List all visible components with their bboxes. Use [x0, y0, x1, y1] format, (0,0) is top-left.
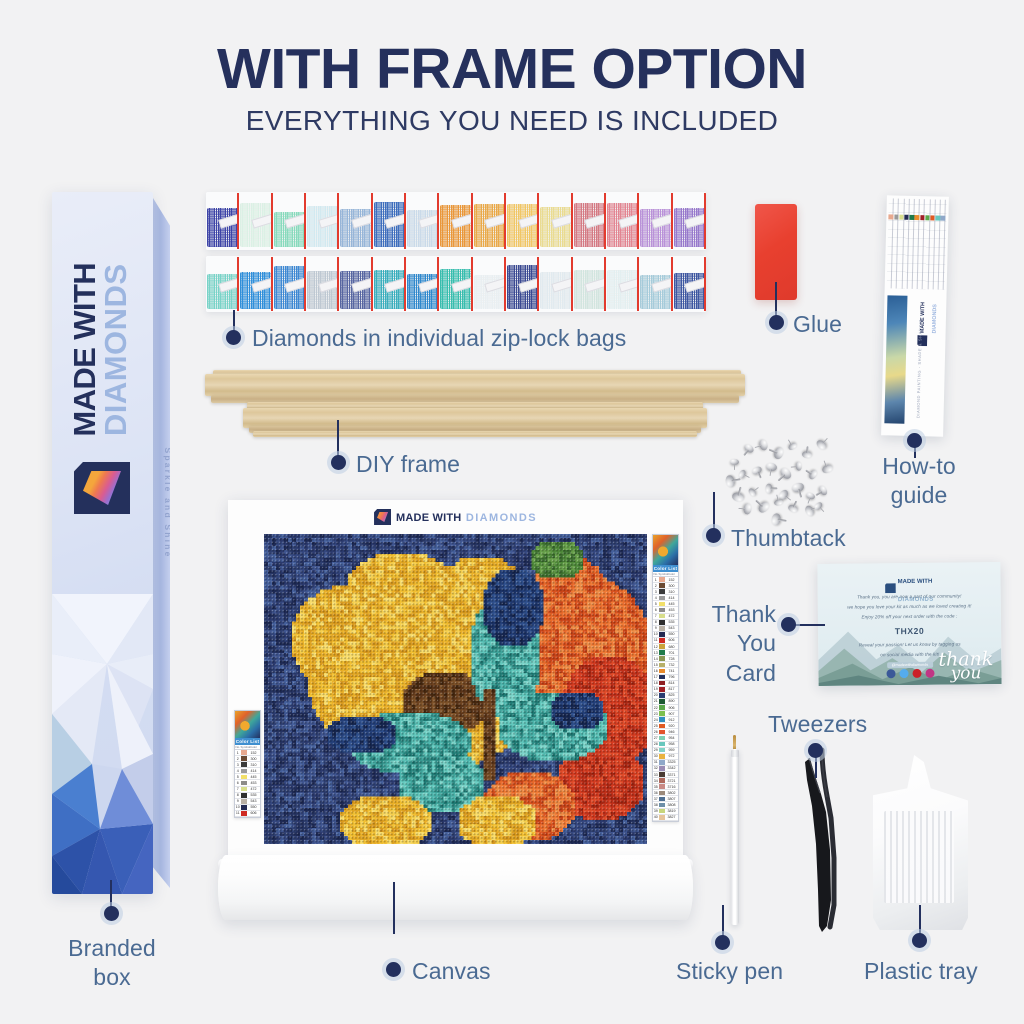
color-row-code: 825: [665, 693, 678, 697]
diamond-bag: [573, 192, 606, 250]
thumbtack: [747, 487, 758, 498]
twitter-icon[interactable]: [899, 669, 908, 678]
diamond-bag: [406, 192, 439, 250]
color-list-title: Color List: [653, 565, 678, 572]
diamond-bag: [673, 256, 706, 312]
diamond-bag: [573, 256, 606, 312]
thumbtack-pin: [738, 507, 746, 509]
diamond-bag: [373, 192, 406, 250]
canvas-sheet: MADE WITH DIAMONDS Color ListNo.SymbolCo…: [228, 500, 683, 870]
color-row-code: 3371: [665, 773, 678, 777]
thumbtack: [743, 443, 755, 455]
box-lowpoly-pattern: [52, 594, 153, 894]
canvas-logo-icon: [374, 509, 391, 525]
thumbtack: [730, 459, 739, 465]
color-row-code: 300: [665, 584, 678, 588]
thumbtack: [787, 503, 799, 514]
infographic-stage: WITH FRAME OPTION EVERYTHING YOU NEED IS…: [0, 0, 1024, 1024]
color-row-code: 414: [247, 769, 260, 773]
box-front-face: MADE WITH DIAMONDS: [52, 192, 153, 894]
pen-body: [731, 749, 739, 925]
card-brand-line1: MADE WITH: [898, 579, 933, 585]
color-row-code: 907: [665, 712, 678, 716]
diamond-bag: [273, 192, 306, 250]
canvas-color-list-left: Color ListNo.SymbolColor1152230033104414…: [234, 710, 261, 818]
callout-diamond-bags: Diamonds in individual zip-lock bags: [252, 325, 626, 352]
color-row-code: 3808: [665, 803, 678, 807]
thumbtack: [765, 484, 772, 494]
color-row-code: 445: [247, 775, 260, 779]
canvas-product: MADE WITH DIAMONDS Color ListNo.SymbolCo…: [228, 500, 683, 920]
diamond-bag: [439, 192, 472, 250]
color-row-code: 543: [247, 799, 260, 803]
callout-dot-diy-frame: [331, 455, 346, 470]
instagram-icon[interactable]: [925, 669, 934, 678]
callout-sticky-pen: Sticky pen: [676, 958, 783, 985]
diamond-bag: [539, 192, 572, 250]
color-row-code: 3819: [665, 809, 678, 813]
canvas-diamond-texture: [264, 534, 647, 844]
diamond-bag: [506, 192, 539, 250]
callout-dot-canvas: [386, 962, 401, 977]
canvas-brand-lockup: MADE WITH DIAMONDS: [228, 508, 683, 526]
color-row-code: 535: [247, 793, 260, 797]
color-row-code: 3827: [665, 815, 678, 819]
thumbtack: [773, 498, 783, 506]
callout-branded-box: Branded box: [42, 934, 182, 993]
thumbtack-pin: [753, 487, 759, 492]
color-list-thumbnail: [653, 535, 678, 565]
thumbtack-head: [773, 446, 785, 460]
guide-color-table: [887, 198, 947, 289]
thumbtack-head: [751, 465, 763, 476]
leader-thank-you-card: [795, 624, 825, 626]
color-row-code: 959: [665, 748, 678, 752]
thumbtack: [802, 451, 813, 459]
card-brand-lockup: MADE WITH DIAMONDS: [884, 570, 933, 607]
callout-thank-you-card: Thank You Card: [672, 600, 776, 688]
color-row-code: 890: [665, 699, 678, 703]
diamond-logo-gradient: [83, 471, 121, 505]
color-row-code: 3342: [665, 766, 678, 770]
color-list-title: Color List: [235, 738, 260, 745]
thumbtack: [813, 501, 824, 512]
card-social-icons: [886, 669, 934, 679]
thumbtack: [771, 513, 781, 526]
box-brand-line1: MADE WITH: [69, 215, 100, 485]
diamond-bag: [273, 256, 306, 312]
color-row-code: 3802: [665, 791, 678, 795]
diamond-bag: [206, 192, 239, 250]
color-row-code: 300: [247, 757, 260, 761]
diy-frame-product: [205, 368, 750, 456]
howto-guide-product: MADE WITH DIAMONDS DIAMOND PAINTING - SH…: [881, 195, 949, 436]
diamond-bag: [506, 256, 539, 312]
thumbtack-head: [787, 441, 798, 451]
diamond-bag: [606, 256, 639, 312]
callout-dot-diamond-bags: [226, 330, 241, 345]
thumbtack: [773, 446, 785, 460]
thumbtack-pin: [732, 479, 741, 482]
leader-canvas: [393, 882, 395, 934]
color-row-code: 3721: [665, 779, 678, 783]
card-promo-code: THX20: [818, 625, 1001, 637]
box-brand-line2: DIAMONDS: [100, 215, 133, 485]
thumbtack-pin: [770, 488, 777, 490]
thumbtack: [807, 468, 818, 480]
color-row-code: 920: [665, 724, 678, 728]
callout-dot-tweezers: [808, 743, 823, 758]
leader-glue: [775, 282, 777, 317]
color-row-code: 606: [247, 811, 260, 815]
card-logo-icon: [885, 583, 896, 593]
color-row-code: 972: [665, 754, 678, 758]
color-row-code: 310: [665, 590, 678, 594]
plastic-tray-product: [870, 755, 968, 930]
thumbtack-pin: [819, 507, 825, 513]
page-title: WITH FRAME OPTION: [0, 36, 1024, 102]
color-row-code: 912: [665, 718, 678, 722]
leader-branded-box: [110, 880, 112, 908]
tray-grooves: [884, 811, 954, 903]
tweezers-product: [800, 740, 842, 935]
callout-dot-branded-box: [104, 906, 119, 921]
thumbtack-head: [805, 492, 816, 501]
bag-zip-seal: [704, 193, 706, 249]
thumbtack: [731, 492, 745, 503]
guide-vertical-caption: DIAMOND PAINTING - SHADE & SHADOW: [916, 319, 923, 418]
leader-thumbtack: [713, 492, 715, 530]
diamond-bag: [439, 256, 472, 312]
diamond-bag: [239, 256, 272, 312]
leader-diy-frame: [337, 420, 339, 456]
canvas-artwork: [264, 534, 647, 844]
diamond-bag: [339, 192, 372, 250]
color-row-code: 453: [247, 781, 260, 785]
color-list-row: 403827: [653, 815, 678, 821]
diamond-bag: [239, 192, 272, 250]
box-side-panel: Sparkle and Shine: [153, 198, 170, 888]
thumbtack: [725, 475, 736, 488]
color-row-code: 3807: [665, 797, 678, 801]
guide-brand-line2: DIAMONDS: [932, 296, 939, 333]
leader-sticky-pen: [722, 905, 724, 937]
diamond-bag: [306, 192, 339, 250]
diamond-bag: [606, 192, 639, 250]
callout-dot-plastic-tray: [912, 933, 927, 948]
color-row-code: 550: [247, 805, 260, 809]
canvas-rolled-edge: [218, 855, 693, 920]
callout-thumbtack: Thumbtack: [731, 525, 846, 552]
diamond-bag: [639, 256, 672, 312]
color-list-row: 11606: [235, 811, 260, 817]
thumbtack: [757, 500, 771, 515]
callout-dot-thumbtack: [706, 528, 721, 543]
color-row-code: 472: [247, 787, 260, 791]
diamond-bag: [406, 256, 439, 312]
callout-canvas: Canvas: [412, 958, 491, 985]
branded-box-product: Sparkle and Shine MADE WITH DIAMONDS: [52, 192, 170, 894]
thumbtack: [815, 438, 828, 451]
diamond-bag-row-bottom: [206, 256, 706, 312]
thumbtack: [765, 462, 777, 472]
guide-cover-image: [884, 295, 907, 423]
color-row-code: 906: [665, 706, 678, 710]
page-subtitle: EVERYTHING YOU NEED IS INCLUDED: [0, 105, 1024, 137]
diamond-bag: [373, 256, 406, 312]
callout-howto: How-to guide: [864, 452, 974, 511]
thumbtack: [787, 441, 798, 451]
thumbtack-head: [738, 469, 748, 480]
canvas-brand-line1: MADE WITH: [396, 512, 461, 524]
thumbtack-pin: [769, 468, 772, 476]
color-row-code: 152: [247, 751, 260, 755]
diamond-bag: [206, 256, 239, 312]
diamond-bag: [473, 192, 506, 250]
leader-plastic-tray: [919, 905, 921, 935]
thumbtack: [758, 439, 769, 452]
diamond-bag: [539, 256, 572, 312]
thumbtack-head: [765, 462, 777, 472]
color-row-code: 3325: [665, 760, 678, 764]
diamond-logo-icon: [74, 462, 130, 514]
callout-dot-howto: [907, 433, 922, 448]
callout-dot-thank-you-card: [781, 617, 796, 632]
sticky-pen-product: [727, 735, 743, 925]
color-list-thumbnail: [235, 711, 260, 738]
thumbtack: [821, 463, 834, 474]
pinterest-icon[interactable]: [912, 669, 921, 678]
diamond-bag: [473, 256, 506, 312]
thumbtack-head: [821, 463, 834, 474]
color-row-code: 3716: [665, 785, 678, 789]
box-tagline: Sparkle and Shine: [163, 428, 173, 578]
thumbtack: [805, 492, 816, 501]
pen-collar: [731, 750, 739, 757]
facebook-icon[interactable]: [886, 669, 895, 678]
color-row-code: 310: [247, 763, 260, 767]
callout-glue: Glue: [793, 311, 842, 338]
thumbtack-pin: [757, 471, 762, 478]
diamond-bag: [673, 192, 706, 250]
callout-dot-glue: [769, 315, 784, 330]
thumbtack: [751, 465, 763, 476]
callout-tweezers: Tweezers: [768, 711, 867, 738]
color-row-code: 958: [665, 742, 678, 746]
thumbtack: [795, 461, 802, 471]
color-row-code: 152: [665, 578, 678, 582]
thumbtack: [817, 484, 828, 496]
thank-you-card-product: MADE WITH DIAMONDS Thank you, you are no…: [817, 562, 1001, 686]
thumbtack: [743, 503, 752, 515]
color-row-code: 954: [665, 736, 678, 740]
callout-plastic-tray: Plastic tray: [864, 958, 978, 985]
box-brand-lockup: MADE WITH DIAMONDS: [69, 215, 133, 485]
color-row-code: 946: [665, 730, 678, 734]
card-social-handle: @madewithdiamonds: [887, 662, 934, 668]
thumbtack: [791, 481, 805, 493]
bag-zip-seal: [704, 257, 706, 311]
card-signature: thank you: [938, 652, 993, 681]
diamond-bag: [306, 256, 339, 312]
callout-dot-sticky-pen: [715, 935, 730, 950]
thumbtack: [738, 469, 748, 480]
leader-diamond-bags: [233, 310, 235, 332]
diamond-bag: [339, 256, 372, 312]
canvas-brand-line2: DIAMONDS: [466, 512, 537, 524]
diamond-bag-row-top: [206, 192, 706, 250]
thumbtack-product: [718, 437, 840, 522]
thumbtack: [779, 466, 793, 481]
tweezers-shape: [800, 740, 842, 935]
callout-diy-frame: DIY frame: [356, 451, 460, 478]
diamond-bag: [639, 192, 672, 250]
